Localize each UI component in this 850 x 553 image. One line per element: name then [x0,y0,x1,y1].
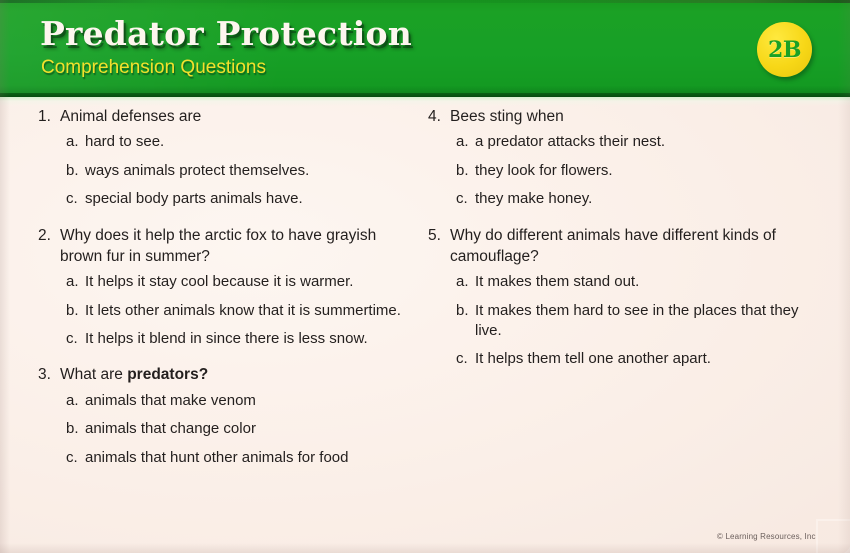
answer-option-text: It helps it stay cool because it is warm… [85,272,420,292]
answer-option-text: they make honey. [475,189,818,209]
question-number: 4. [428,106,450,127]
header-glow [0,97,850,106]
questions-column-right: 4.Bees sting whena.a predator attacks th… [428,106,818,385]
question-text: What are predators? [60,364,420,385]
answer-option[interactable]: b.It makes them hard to see in the place… [428,301,818,342]
answer-option-letter: a. [66,132,85,152]
question-line: 1.Animal defenses are [38,106,420,127]
question-line: 3.What are predators? [38,364,420,385]
question-text: Animal defenses are [60,106,420,127]
copyright-notice: © Learning Resources, Inc. [717,532,818,541]
answer-option[interactable]: a.animals that make venom [38,391,420,411]
answer-option-letter: a. [66,272,85,292]
answer-option-text: animals that change color [85,419,420,439]
answer-option-letter: b. [66,301,85,321]
question-line: 5.Why do different animals have differen… [428,225,818,268]
answer-option-letter: b. [456,161,475,181]
answer-option-text: a predator attacks their nest. [475,132,818,152]
questions-column-left: 1.Animal defenses area.hard to see.b.way… [38,106,420,483]
question-block: 2.Why does it help the arctic fox to hav… [38,225,420,350]
answer-option-letter: c. [66,329,85,349]
header-top-edge [0,0,850,3]
answer-option[interactable]: c.It helps it blend in since there is le… [38,329,420,349]
answer-option-letter: c. [456,189,475,209]
answer-option[interactable]: a.It helps it stay cool because it is wa… [38,272,420,292]
question-text: Bees sting when [450,106,818,127]
answer-option-text: they look for flowers. [475,161,818,181]
answer-option-text: ways animals protect themselves. [85,161,420,181]
answer-option-text: animals that make venom [85,391,420,411]
question-text: Why do different animals have different … [450,225,818,268]
answer-option-letter: a. [66,391,85,411]
answer-option-text: It helps them tell one another apart. [475,349,818,369]
card-header: Predator Protection Comprehension Questi… [0,0,850,97]
answer-option-text: It makes them hard to see in the places … [475,301,818,342]
question-line: 2.Why does it help the arctic fox to hav… [38,225,420,268]
answer-options: a.hard to see.b.ways animals protect the… [38,132,420,209]
answer-option-letter: b. [456,301,475,321]
answer-option[interactable]: c.animals that hunt other animals for fo… [38,448,420,468]
answer-option-letter: a. [456,132,475,152]
question-number: 2. [38,225,60,246]
page-subtitle: Comprehension Questions [41,57,266,79]
page-title: Predator Protection [40,14,412,53]
answer-option[interactable]: b.animals that change color [38,419,420,439]
answer-option-letter: a. [456,272,475,292]
question-block: 1.Animal defenses area.hard to see.b.way… [38,106,420,210]
question-number: 5. [428,225,450,246]
question-line: 4.Bees sting when [428,106,818,127]
answer-option[interactable]: b.It lets other animals know that it is … [38,301,420,321]
answer-option-text: It lets other animals know that it is su… [85,301,420,321]
answer-option-letter: c. [456,349,475,369]
answer-option-letter: c. [66,189,85,209]
question-number: 3. [38,364,60,385]
answer-option[interactable]: a.hard to see. [38,132,420,152]
answer-option[interactable]: c.It helps them tell one another apart. [428,349,818,369]
answer-option[interactable]: a.a predator attacks their nest. [428,132,818,152]
answer-option[interactable]: a.It makes them stand out. [428,272,818,292]
card-corner-bottom-right [818,521,850,553]
answer-options: a.a predator attacks their nest.b.they l… [428,132,818,209]
answer-option-letter: b. [66,161,85,181]
answer-option-text: It helps it blend in since there is less… [85,329,420,349]
answer-option[interactable]: b.ways animals protect themselves. [38,161,420,181]
answer-option[interactable]: c.they make honey. [428,189,818,209]
answer-option-text: special body parts animals have. [85,189,420,209]
answer-option-text: It makes them stand out. [475,272,818,292]
answer-options: a.animals that make venomb.animals that … [38,391,420,468]
answer-option[interactable]: c.special body parts animals have. [38,189,420,209]
answer-options: a.It makes them stand out.b.It makes the… [428,272,818,370]
question-block: 4.Bees sting whena.a predator attacks th… [428,106,818,210]
answer-option-text: hard to see. [85,132,420,152]
answer-options: a.It helps it stay cool because it is wa… [38,272,420,349]
answer-option[interactable]: b.they look for flowers. [428,161,818,181]
question-block: 5.Why do different animals have differen… [428,225,818,370]
activity-card: Predator Protection Comprehension Questi… [0,0,850,553]
question-number: 1. [38,106,60,127]
answer-option-letter: b. [66,419,85,439]
question-block: 3.What are predators?a.animals that make… [38,364,420,468]
card-number-badge: 2B [757,22,812,77]
question-text: Why does it help the arctic fox to have … [60,225,420,268]
answer-option-letter: c. [66,448,85,468]
card-number-badge-label: 2B [768,37,801,63]
answer-option-text: animals that hunt other animals for food [85,448,420,468]
